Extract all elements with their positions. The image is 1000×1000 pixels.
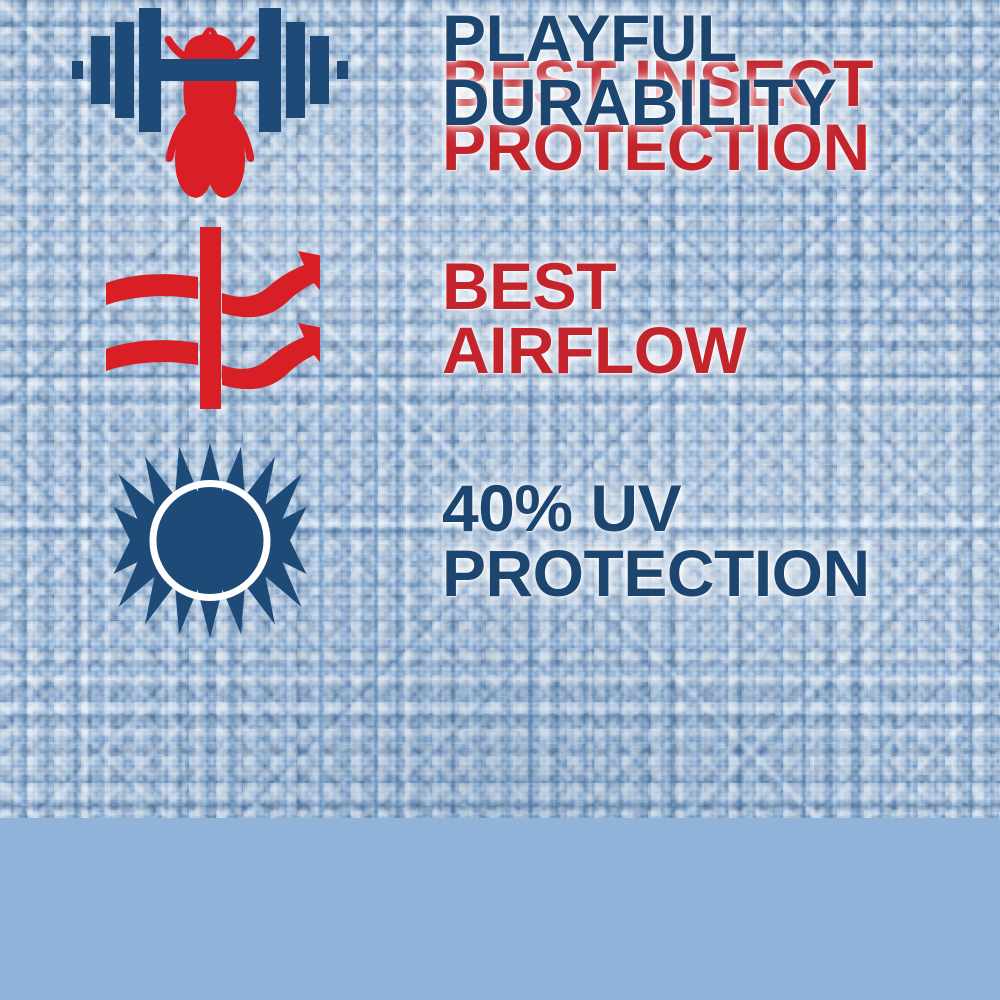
feature-list: BEST INSECT PROTECTION <box>0 0 1000 818</box>
airflow-arrows-icon <box>100 223 320 413</box>
feature-row-airflow: BEST AIRFLOW <box>0 213 1000 423</box>
feature-text-cell: BEST AIRFLOW <box>420 254 1000 382</box>
feature-headline-uv-protection: 40% UV PROTECTION <box>442 476 1000 604</box>
feature-headline-airflow: BEST AIRFLOW <box>442 254 1000 382</box>
product-feature-poster: BEST INSECT PROTECTION <box>0 0 1000 1000</box>
sun-uv-icon <box>110 443 310 638</box>
feature-icon-cell <box>0 0 420 140</box>
feature-text-cell: 40% UV PROTECTION <box>420 476 1000 604</box>
feature-row-uv-protection: 40% UV PROTECTION <box>0 438 1000 643</box>
dumbbell-icon <box>70 0 350 140</box>
feature-text-cell: PLAYFUL DURABILITY <box>420 6 1000 134</box>
feature-headline-durability: PLAYFUL DURABILITY <box>442 6 1000 134</box>
feature-icon-cell <box>0 223 420 413</box>
feature-icon-cell <box>0 443 420 638</box>
feature-row-durability: PLAYFUL DURABILITY <box>0 0 1000 140</box>
